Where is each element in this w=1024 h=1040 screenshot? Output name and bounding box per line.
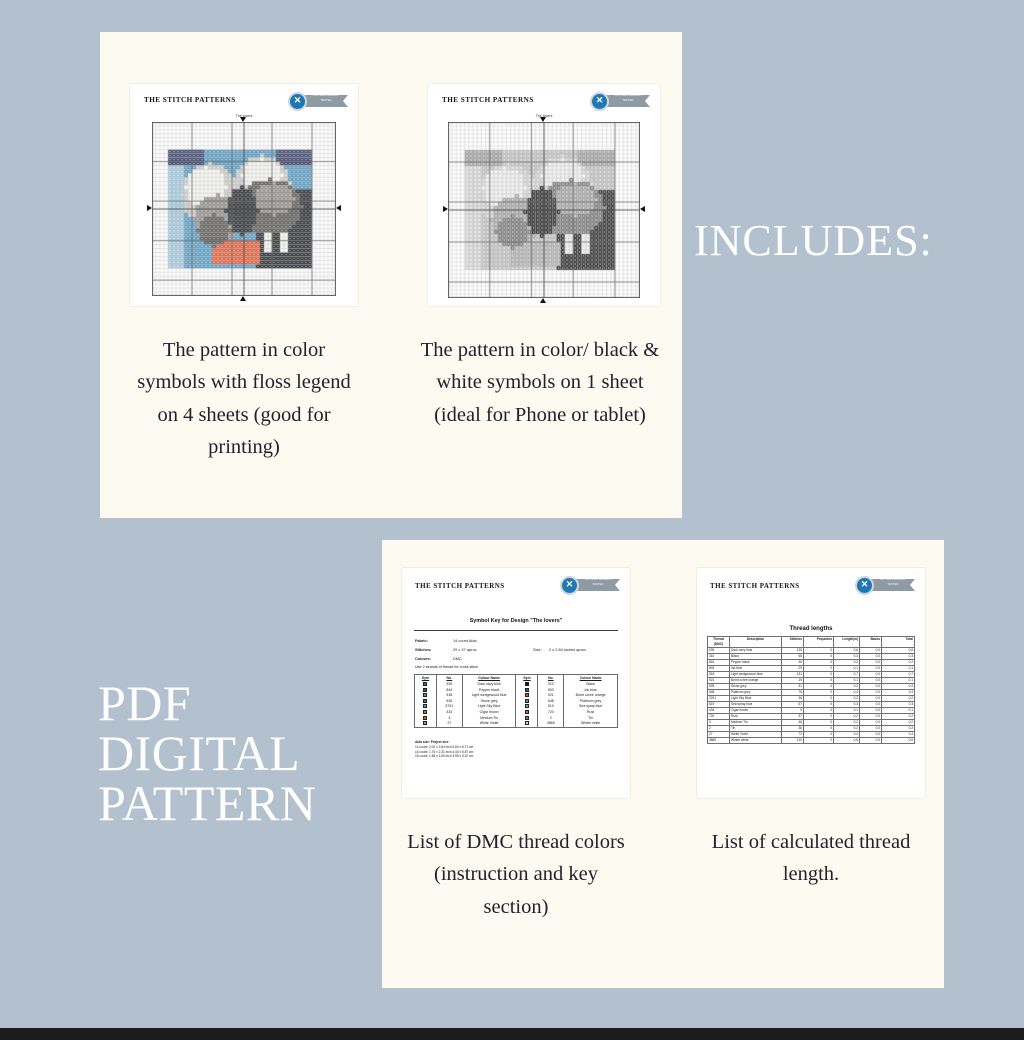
pdf-line-1: PDF <box>98 678 316 728</box>
badge-cross-icon <box>560 576 579 595</box>
pdf-line-3: PATTERN <box>98 778 316 828</box>
includes-heading: INCLUDES: <box>694 215 933 266</box>
symbol-key-table: SymNo.Colour NameSymNo.Colour Name 939Da… <box>414 674 618 728</box>
tl-col-6: Total <box>882 637 915 648</box>
badge-cross-icon <box>288 92 307 111</box>
swatch-icon <box>525 682 529 686</box>
chart-marker-left <box>147 205 152 211</box>
sheet-color-symbols[interactable]: THE STITCH PATTERNS PATTERN MAKERS TESTE… <box>130 84 358 306</box>
sheet-bw-symbols[interactable]: THE STITCH PATTERNS PATTERN MAKERS TESTE… <box>428 84 660 306</box>
table-cell: 27 <box>436 721 462 727</box>
stitches-row: Stitches: 29 x 37 aprox Size: 2 x 2.64 i… <box>415 647 431 652</box>
swatch-icon <box>525 710 529 714</box>
table-row: 3865Winter white11000.60.00.6 <box>708 738 915 744</box>
table-cell: 0.0 <box>860 738 882 744</box>
chart-marker-top <box>240 117 246 122</box>
pdf-digital-pattern-heading: PDF DIGITAL PATTERN <box>98 678 316 828</box>
badge-cross-icon <box>855 576 874 595</box>
symbol-swatch <box>516 721 538 727</box>
strands-note: Use 2 strands of thread for cross stitch <box>415 665 478 669</box>
tl-col-2: Stitches <box>782 637 804 648</box>
swatch-icon <box>525 699 529 703</box>
sheet-header-title: THE STITCH PATTERNS <box>442 96 534 104</box>
size-label: Size: <box>533 647 542 652</box>
symbol-key-header-row: SymNo.Colour NameSymNo.Colour Name <box>415 675 618 683</box>
chart-marker-right <box>640 206 645 212</box>
chart-marker-top <box>540 117 546 122</box>
pattern-tested-badge: PATTERN MAKERS TESTED <box>855 576 915 594</box>
table-cell: 0.6 <box>834 738 860 744</box>
swatch-icon <box>423 716 427 720</box>
project-size-line-2: 18 count: 1.56 x 2.60 inch 3.95 x 5.22 c… <box>415 754 473 759</box>
sheet-header-title: THE STITCH PATTERNS <box>710 582 800 590</box>
swatch-icon <box>525 688 529 692</box>
project-size-title: Aida size: Project size <box>415 740 448 744</box>
colours-row: Colours: DMC <box>415 656 431 661</box>
sheet-symbol-key[interactable]: THE STITCH PATTERNS PATTERN MAKERS TESTE… <box>402 568 630 798</box>
project-size-block: Aida size: Project size 14 count: 2.00 x… <box>415 740 473 759</box>
project-size-line-0: 14 count: 2.00 x 2.64 inch 5.80 x 6.71 c… <box>415 745 473 750</box>
table-cell: 110 <box>782 738 804 744</box>
badge-text-2: TESTED <box>873 583 913 587</box>
badge-text-2: TESTED <box>306 99 346 103</box>
swatch-icon <box>423 721 427 725</box>
caption-color-symbols: The pattern in color symbols with floss … <box>128 334 360 464</box>
colours-label: Colours: <box>415 656 431 661</box>
bottom-strip <box>0 1028 1024 1040</box>
badge-text-1: PATTERN MAKERS <box>306 94 346 98</box>
table-row: 27White Violet3865Winter white <box>415 721 618 727</box>
table-cell: Winter white <box>564 721 618 727</box>
chart-marker-right <box>336 205 341 211</box>
key-col-1: No. <box>436 675 462 683</box>
symbol-swatch <box>415 721 437 727</box>
key-col-3: Sym <box>516 675 538 683</box>
badge-text-1: PATTERN MAKERS <box>873 578 913 582</box>
stitches-value: 29 x 37 aprox <box>453 647 477 652</box>
thread-lengths-header-row: Thread (DMC)DescriptionStitchesPequnites… <box>708 637 915 648</box>
symbol-key-body: 939Dark navy blue310Black844Pepper black… <box>415 682 618 727</box>
key-col-4: No. <box>538 675 564 683</box>
sheet-thread-lengths[interactable]: THE STITCH PATTERNS PATTERN MAKERS TESTE… <box>697 568 925 798</box>
project-size-lines: 14 count: 2.00 x 2.64 inch 5.80 x 6.71 c… <box>415 745 473 759</box>
swatch-icon <box>525 721 529 725</box>
poster-canvas: THE STITCH PATTERNS PATTERN MAKERS TESTE… <box>0 0 1024 1040</box>
swatch-icon <box>423 699 427 703</box>
size-value: 2 x 2.64 inches aprox <box>549 647 586 652</box>
thread-lengths-title: Thread lengths <box>697 626 925 632</box>
swatch-icon <box>525 704 529 708</box>
symbol-key-title: Symbol Key for Design "The lovers" <box>402 618 630 624</box>
chart-marker-left <box>443 206 448 212</box>
caption-thread-length: List of calculated thread length. <box>694 826 928 891</box>
pattern-tested-badge: PATTERN MAKERS TESTED <box>590 92 650 110</box>
fabric-label: Fabric: <box>415 638 428 643</box>
tl-col-5: Backs <box>860 637 882 648</box>
pattern-tested-badge: PATTERN MAKERS TESTED <box>560 576 620 594</box>
swatch-icon <box>423 682 427 686</box>
table-cell: Winter white <box>730 738 782 744</box>
thread-lengths-table: Thread (DMC)DescriptionStitchesPequnites… <box>707 636 915 744</box>
swatch-icon <box>525 716 529 720</box>
swatch-icon <box>525 693 529 697</box>
thread-lengths-body: 939Dark navy blue12500.60.00.6310Black66… <box>708 648 915 744</box>
table-cell: 0 <box>804 738 834 744</box>
caption-dmc-list: List of DMC thread colors (instruction a… <box>404 826 628 923</box>
tl-col-4: Length(m) <box>834 637 860 648</box>
cross-stitch-canvas-color <box>152 122 336 296</box>
colours-value: DMC <box>453 656 462 661</box>
chart-grid-bw <box>448 122 640 298</box>
key-col-0: Sym <box>415 675 437 683</box>
swatch-icon <box>423 704 427 708</box>
chart-grid-color <box>152 122 336 296</box>
badge-text-1: PATTERN MAKERS <box>608 94 648 98</box>
swatch-icon <box>423 710 427 714</box>
sheet-header-title: THE STITCH PATTERNS <box>144 96 236 104</box>
pattern-tested-badge: PATTERN MAKERS TESTED <box>288 92 348 110</box>
table-cell: 3865 <box>538 721 564 727</box>
badge-text-1: PATTERN MAKERS <box>578 578 618 582</box>
pdf-line-2: DIGITAL <box>98 728 316 778</box>
fabric-row: Fabric: 14 count Aida <box>415 638 428 643</box>
table-cell: 3865 <box>708 738 730 744</box>
key-col-2: Colour Name <box>462 675 516 683</box>
table-cell: 0.6 <box>882 738 915 744</box>
tl-col-1: Description <box>730 637 782 648</box>
caption-bw-symbols: The pattern in color/ black & white symb… <box>420 334 660 431</box>
table-cell: White Violet <box>462 721 516 727</box>
badge-cross-icon <box>590 92 609 111</box>
fabric-value: 14 count Aida <box>453 638 477 643</box>
badge-text-2: TESTED <box>608 99 648 103</box>
chart-marker-bottom <box>240 296 246 301</box>
swatch-icon <box>423 693 427 697</box>
chart-marker-bottom <box>540 298 546 303</box>
swatch-icon <box>423 688 427 692</box>
divider-top <box>414 630 618 631</box>
cross-stitch-canvas-bw <box>448 122 640 298</box>
sheet-header-title: THE STITCH PATTERNS <box>415 582 505 590</box>
tl-col-3: Pequnites <box>804 637 834 648</box>
key-col-5: Colour Name <box>564 675 618 683</box>
badge-text-2: TESTED <box>578 583 618 587</box>
tl-col-0: Thread (DMC) <box>708 637 730 648</box>
stitches-label: Stitches: <box>415 647 431 652</box>
